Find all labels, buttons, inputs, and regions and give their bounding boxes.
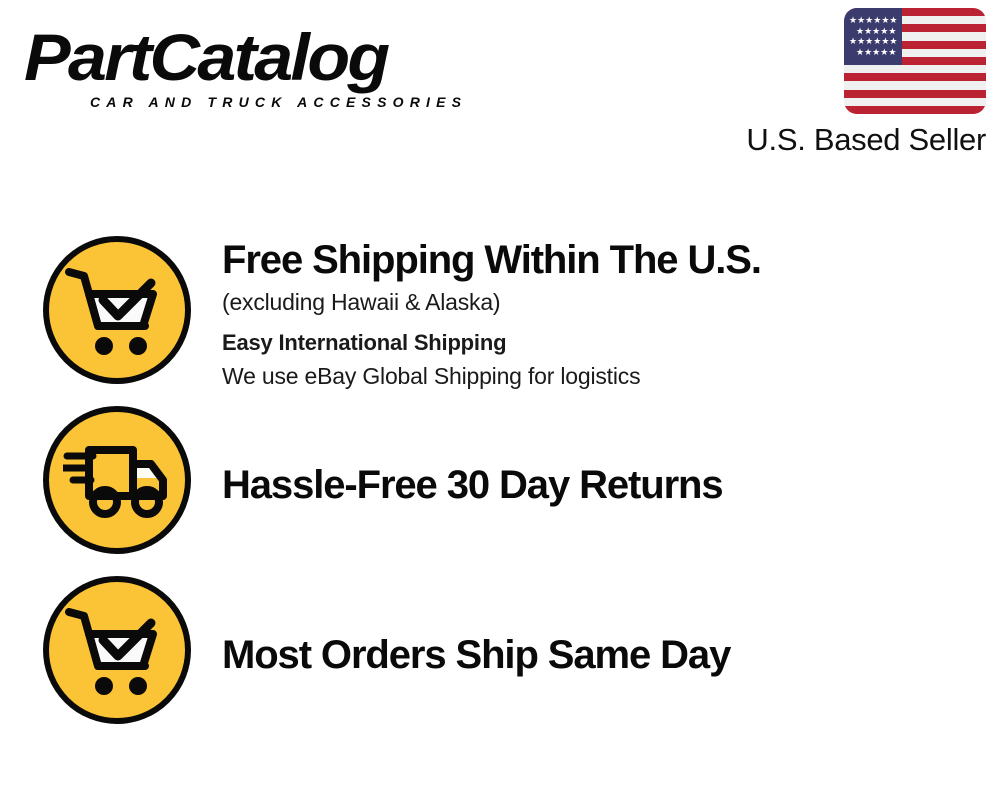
flag-stripe <box>844 73 986 81</box>
flag-star: ★ <box>880 27 888 36</box>
shopping-cart-check-icon <box>43 236 191 384</box>
flag-star: ★ <box>873 16 881 25</box>
flag-star: ★ <box>849 16 857 25</box>
feature-row: Free Shipping Within The U.S. (excluding… <box>0 236 1000 406</box>
flag-star: ★ <box>888 48 896 57</box>
flag-star-row: ★ ★ ★ ★ ★ <box>849 26 897 37</box>
flag-star: ★ <box>865 37 873 46</box>
flag-star: ★ <box>857 16 865 25</box>
flag-stripe <box>844 98 986 106</box>
seller-badge-label: U.S. Based Seller <box>716 122 986 158</box>
feature-row: Most Orders Ship Same Day <box>0 576 1000 746</box>
flag-star: ★ <box>873 37 881 46</box>
us-flag-icon: ★ ★ ★ ★ ★ ★ ★ ★ ★ ★ ★ ★ ★ ★ <box>844 8 986 114</box>
delivery-truck-icon <box>43 406 191 554</box>
brand-tagline: CAR AND TRUCK ACCESSORIES <box>90 94 467 110</box>
feature-subdetail: We use eBay Global Shipping for logistic… <box>222 360 1000 392</box>
flag-star: ★ <box>864 27 872 36</box>
feature-title: Free Shipping Within The U.S. <box>222 236 1000 285</box>
flag-star: ★ <box>889 37 897 46</box>
shopping-cart-check-icon <box>43 576 191 724</box>
feature-text: Most Orders Ship Same Day <box>191 576 1000 680</box>
feature-subheading: Easy International Shipping <box>222 327 1000 359</box>
flag-star-row: ★ ★ ★ ★ ★ <box>849 47 897 58</box>
promo-banner: PartCatalog CAR AND TRUCK ACCESSORIES <box>0 0 1000 800</box>
feature-title: Hassle-Free 30 Day Returns <box>222 461 1000 510</box>
flag-star-row: ★ ★ ★ ★ ★ ★ <box>849 15 897 26</box>
feature-list: Free Shipping Within The U.S. (excluding… <box>0 236 1000 746</box>
flag-star: ★ <box>864 48 872 57</box>
flag-star: ★ <box>856 27 864 36</box>
flag-star-row: ★ ★ ★ ★ ★ ★ <box>849 37 897 48</box>
flag-star: ★ <box>881 37 889 46</box>
feature-row: Hassle-Free 30 Day Returns <box>0 406 1000 576</box>
brand-logo: PartCatalog CAR AND TRUCK ACCESSORIES <box>24 22 494 114</box>
flag-star: ★ <box>857 37 865 46</box>
flag-star: ★ <box>889 16 897 25</box>
flag-star: ★ <box>881 16 889 25</box>
flag-stripe <box>844 106 986 114</box>
feature-text: Hassle-Free 30 Day Returns <box>191 406 1000 510</box>
brand-wordmark: PartCatalog <box>24 22 522 92</box>
feature-title: Most Orders Ship Same Day <box>222 631 1000 680</box>
flag-star: ★ <box>865 16 873 25</box>
feature-text: Free Shipping Within The U.S. (excluding… <box>191 236 1000 392</box>
flag-star: ★ <box>880 48 888 57</box>
seller-badge: ★ ★ ★ ★ ★ ★ ★ ★ ★ ★ ★ ★ ★ ★ <box>716 8 986 158</box>
flag-star: ★ <box>872 27 880 36</box>
flag-star: ★ <box>888 27 896 36</box>
flag-star: ★ <box>872 48 880 57</box>
flag-star: ★ <box>849 37 857 46</box>
flag-stripe <box>844 81 986 89</box>
flag-canton: ★ ★ ★ ★ ★ ★ ★ ★ ★ ★ ★ ★ ★ ★ <box>844 8 902 65</box>
flag-stripe <box>844 65 986 73</box>
flag-star: ★ <box>856 48 864 57</box>
flag-stripe <box>844 90 986 98</box>
feature-subnote: (excluding Hawaii & Alaska) <box>222 286 1000 318</box>
